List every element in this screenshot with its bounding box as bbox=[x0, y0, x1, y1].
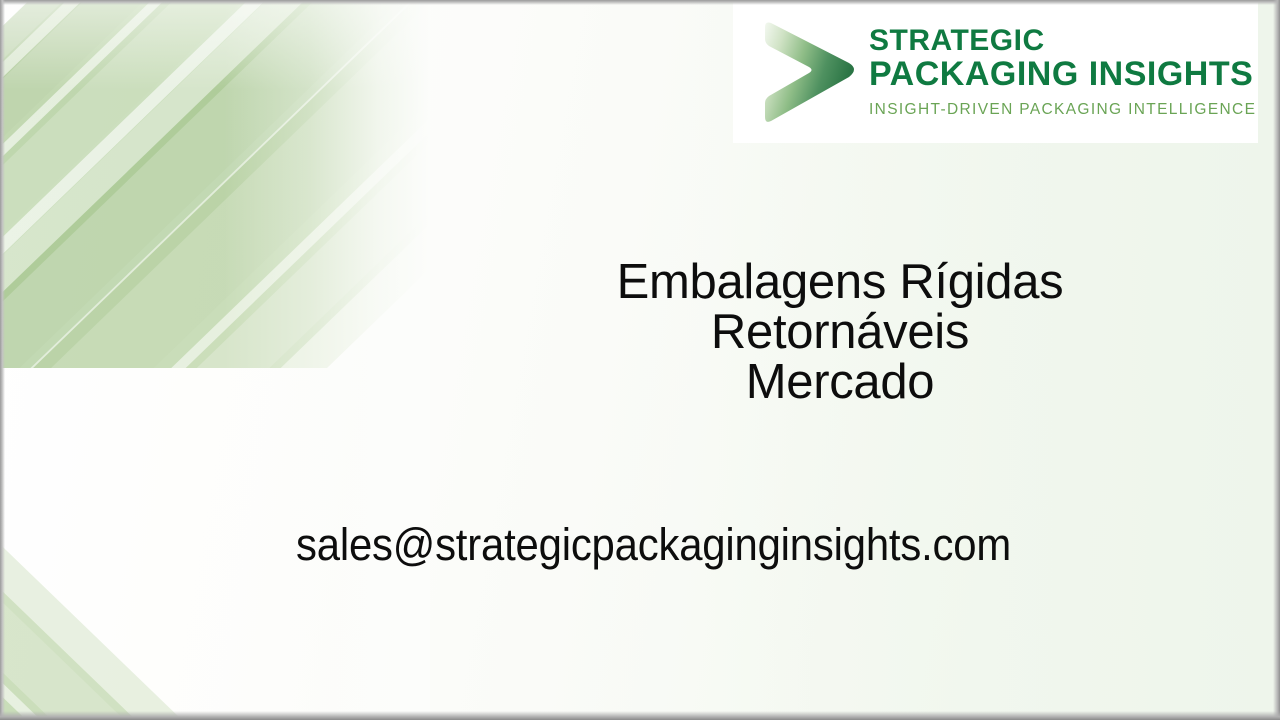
contact-email[interactable]: sales@strategicpackaginginsights.com bbox=[296, 522, 1011, 567]
page-title: Embalagens Rígidas Retornáveis Mercado bbox=[440, 258, 1240, 408]
chevron-upper-stripes bbox=[0, 0, 430, 368]
chevron-right-icon bbox=[757, 17, 861, 127]
logo-line-1: STRATEGIC bbox=[869, 26, 1256, 57]
logo-wordmark: STRATEGIC PACKAGING INSIGHTS INSIGHT-DRI… bbox=[869, 24, 1256, 118]
chevron-stripes-graphic bbox=[0, 0, 430, 720]
logo-tagline: INSIGHT-DRIVEN PACKAGING INTELLIGENCE bbox=[869, 101, 1256, 119]
company-logo: STRATEGIC PACKAGING INSIGHTS INSIGHT-DRI… bbox=[733, 0, 1258, 143]
presentation-slide: STRATEGIC PACKAGING INSIGHTS INSIGHT-DRI… bbox=[0, 0, 1280, 720]
logo-line-2: PACKAGING INSIGHTS bbox=[869, 57, 1256, 92]
